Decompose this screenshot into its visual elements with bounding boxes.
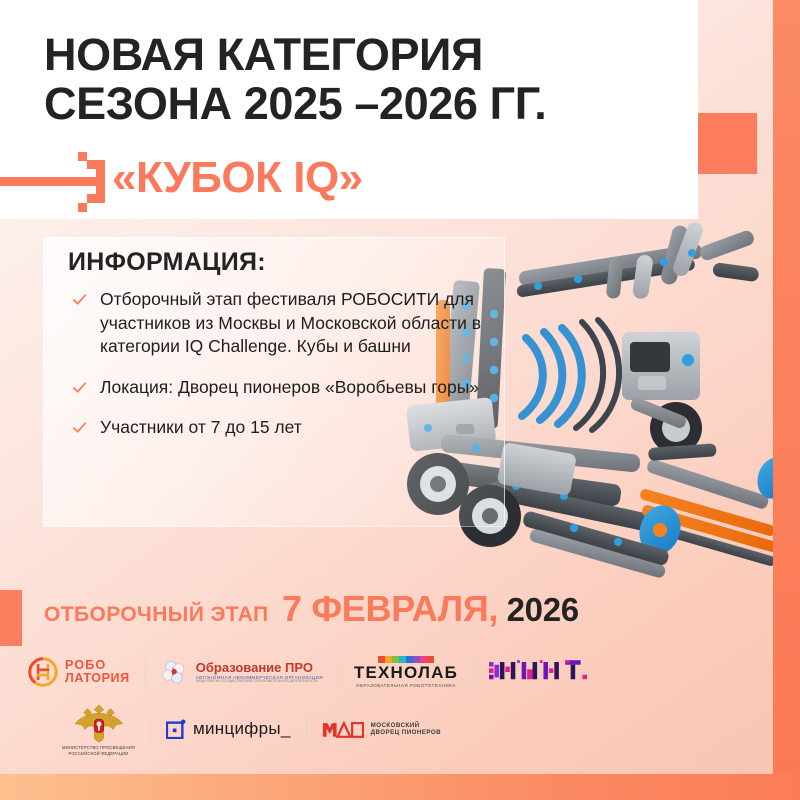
logo-moscow-palace-of-pioneers: МОСКОВСКИЙ ДВОРЕЦ ПИОНЕРОВ (322, 721, 441, 738)
check-icon (72, 290, 87, 305)
list-item-text: Отборочный этап фестиваля РОБОСИТИ для у… (100, 289, 481, 356)
date-prefix: ОТБОРОЧНЫЙ ЭТАП (44, 603, 269, 626)
decorative-square-orange (695, 113, 757, 174)
mdp-line-2: ДВОРЕЦ ПИОНЕРОВ (371, 729, 441, 737)
title-line-2: СЕЗОНА 2025 –2026 ГГ. (44, 79, 684, 128)
logo-divider (473, 659, 474, 685)
logo-obrazovanie-pro: Образование ПРО АВТОНОМНАЯ НЕКОММЕРЧЕСКА… (161, 659, 323, 686)
obrazovanie-pro-line-3: ЛИЦЕНЗИЯ НА ОСУЩЕСТВЛЕНИЕ ОБРАЗОВАТЕЛЬНО… (196, 680, 323, 684)
info-list: Отборочный этап фестиваля РОБОСИТИ для у… (72, 288, 532, 457)
decorative-edge-bottom (0, 774, 800, 800)
check-icon (72, 378, 87, 393)
partner-logos-row-1: РОБО ЛАТОРИЯ Образование ПРО АВТОНОМНАЯ … (28, 652, 587, 692)
decorative-edge-right (773, 0, 800, 800)
ministry-line-2: РОССИЙСКОЙ ФЕДЕРАЦИИ (62, 751, 135, 757)
list-item-text: Локация: Дворец пионеров «Воробьевы горы… (100, 377, 479, 397)
check-icon (72, 418, 87, 433)
list-item-text: Участники от 7 до 15 лет (100, 417, 302, 437)
list-item: Отборочный этап фестиваля РОБОСИТИ для у… (72, 288, 532, 359)
list-item: Участники от 7 до 15 лет (72, 416, 532, 440)
obrazovanie-pro-line-1: Образование ПРО (196, 661, 323, 675)
logo-mincifry: минцифры_ (166, 719, 291, 739)
subtitle: «КУБОК IQ» (112, 152, 363, 204)
russian-coat-of-arms-icon (72, 701, 126, 743)
logo-divider (306, 716, 307, 742)
ministry-caption: МИНИСТЕРСТВО ПРОСВЕЩЕНИЯ РОССИЙСКОЙ ФЕДЕ… (62, 745, 135, 756)
logo-my-it (489, 660, 587, 684)
page-title: НОВАЯ КАТЕГОРИЯ СЕЗОНА 2025 –2026 ГГ. (44, 30, 684, 128)
mincifry-mark-icon (166, 719, 186, 739)
date-bar: ОТБОРОЧНЫЙ ЭТАП 7 ФЕВРАЛЯ, 2026 (44, 588, 579, 630)
list-item: Локация: Дворец пионеров «Воробьевы горы… (72, 376, 532, 400)
poster-canvas: НОВАЯ КАТЕГОРИЯ СЕЗОНА 2025 –2026 ГГ. «К… (0, 0, 800, 800)
obrazovanie-pro-mark-icon (161, 659, 191, 686)
date-year: 2026 (507, 591, 579, 628)
logo-divider (150, 716, 151, 742)
robolatoria-line-2: ЛАТОРИЯ (65, 672, 130, 685)
robolatoria-mark-icon (28, 657, 58, 687)
logo-divider (145, 659, 146, 685)
logo-ministry-of-education: МИНИСТЕРСТВО ПРОСВЕЩЕНИЯ РОССИЙСКОЙ ФЕДЕ… (62, 701, 135, 756)
info-heading: ИНФОРМАЦИЯ: (68, 248, 266, 277)
mdp-line-1: МОСКОВСКИЙ (371, 722, 441, 730)
mdp-wordmark: МОСКОВСКИЙ ДВОРЕЦ ПИОНЕРОВ (371, 722, 441, 737)
logo-divider (338, 659, 339, 685)
logo-robolatoria: РОБО ЛАТОРИЯ (28, 657, 130, 687)
my-it-wordmark-icon (489, 660, 587, 684)
date-day: 7 ФЕВРАЛЯ, (282, 588, 498, 629)
mdp-mark-icon (322, 721, 364, 738)
technolab-exam-pixels (378, 656, 434, 663)
technolab-tagline: ОБРАЗОВАТЕЛЬНАЯ РОБОТОТЕХНИКА (356, 683, 456, 688)
logo-technolab: ТЕХНОЛАБ ОБРАЗОВАТЕЛЬНАЯ РОБОТОТЕХНИКА (354, 656, 458, 688)
partner-logos-row-2: МИНИСТЕРСТВО ПРОСВЕЩЕНИЯ РОССИЙСКОЙ ФЕДЕ… (62, 700, 441, 758)
obrazovanie-pro-wordmark: Образование ПРО АВТОНОМНАЯ НЕКОММЕРЧЕСКА… (196, 661, 323, 684)
robolatoria-wordmark: РОБО ЛАТОРИЯ (65, 659, 130, 685)
title-line-1: НОВАЯ КАТЕГОРИЯ (44, 29, 483, 80)
technolab-wordmark: ТЕХНОЛАБ (354, 664, 458, 681)
mincifry-wordmark: минцифры_ (193, 719, 291, 739)
decorative-block-left (0, 590, 22, 646)
